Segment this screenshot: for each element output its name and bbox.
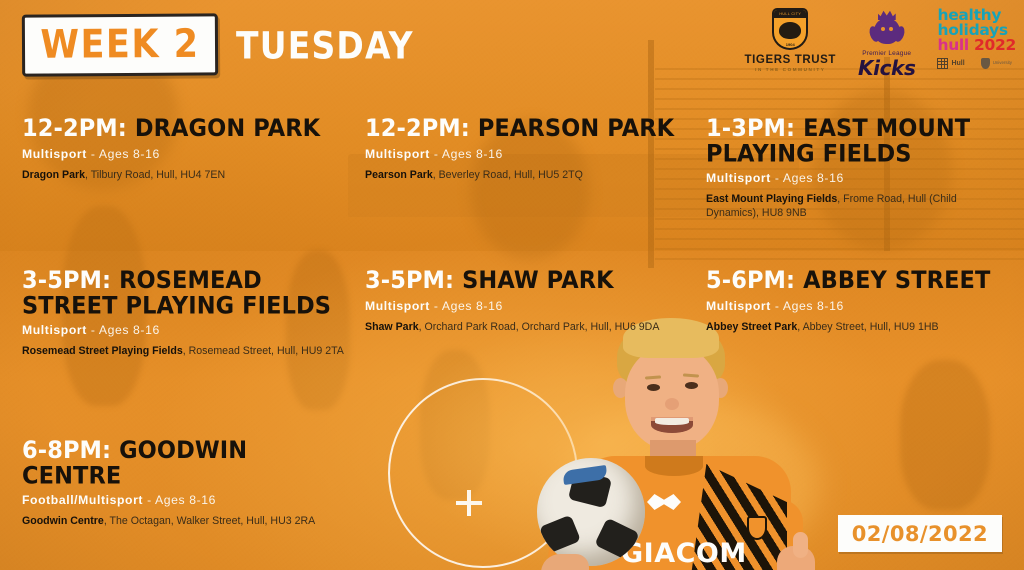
event-ages: - Ages 8-16	[771, 171, 844, 185]
event-address: Pearson Park, Beverley Road, Hull, HU5 2…	[365, 168, 690, 182]
event-ages: - Ages 8-16	[430, 299, 503, 313]
event-time: 12-2PM:	[365, 115, 470, 143]
event-time: 3-5PM:	[365, 267, 454, 295]
event-address-rest: , Abbey Street, Hull, HU9 1HB	[797, 321, 938, 333]
event-sport: Football/Multisport	[22, 493, 143, 507]
event-address-name: Pearson Park	[365, 169, 433, 181]
event-card-pearson-park[interactable]: 12-2PM: PEARSON PARK Multisport - Ages 8…	[365, 116, 690, 182]
event-card-goodwin-centre[interactable]: 6-8PM: GOODWIN CENTRE Football/Multispor…	[22, 438, 352, 528]
event-address: Rosemead Street Playing Fields, Rosemead…	[22, 344, 352, 358]
event-sport: Multisport	[365, 299, 430, 313]
event-sport: Multisport	[706, 171, 771, 185]
event-address-rest: , Tilbury Road, Hull, HU4 7EN	[85, 169, 225, 181]
event-sport: Multisport	[706, 299, 771, 313]
event-address: Goodwin Centre, The Octagan, Walker Stre…	[22, 514, 352, 528]
event-title: 1-3PM: EAST MOUNT PLAYING FIELDS	[706, 116, 1006, 167]
event-time: 6-8PM:	[22, 437, 111, 465]
event-card-east-mount-playing-fields[interactable]: 1-3PM: EAST MOUNT PLAYING FIELDS Multisp…	[706, 116, 1006, 221]
event-time: 12-2PM:	[22, 115, 127, 143]
event-address-name: Rosemead Street Playing Fields	[22, 345, 183, 357]
event-address-rest: , Rosemead Street, Hull, HU9 2TA	[183, 345, 344, 357]
event-ages: - Ages 8-16	[143, 493, 216, 507]
event-sport: Multisport	[22, 323, 87, 337]
event-sport-line: Multisport - Ages 8-16	[365, 147, 690, 161]
event-venue: PEARSON PARK	[478, 115, 674, 143]
event-sport-line: Multisport - Ages 8-16	[22, 323, 352, 337]
event-address-name: Shaw Park	[365, 321, 419, 333]
event-address-name: Goodwin Centre	[22, 515, 104, 527]
poster-canvas: WEEK 2 TUESDAY HULL CITY 1904 TIGERS TRU…	[0, 0, 1024, 570]
event-venue: DRAGON PARK	[135, 115, 320, 143]
event-card-dragon-park[interactable]: 12-2PM: DRAGON PARK Multisport - Ages 8-…	[22, 116, 352, 182]
event-address-rest: , The Octagan, Walker Street, Hull, HU3 …	[104, 515, 315, 527]
event-venue: SHAW PARK	[462, 267, 614, 295]
event-title: 12-2PM: DRAGON PARK	[22, 116, 352, 142]
event-sport-line: Multisport - Ages 8-16	[22, 147, 352, 161]
event-time: 5-6PM:	[706, 267, 795, 295]
event-sport-line: Football/Multisport - Ages 8-16	[22, 493, 352, 507]
event-address: East Mount Playing Fields, Frome Road, H…	[706, 192, 1006, 221]
event-title: 6-8PM: GOODWIN CENTRE	[22, 438, 352, 489]
event-title: 3-5PM: ROSEMEAD STREET PLAYING FIELDS	[22, 268, 352, 319]
event-sport-line: Multisport - Ages 8-16	[706, 299, 1006, 313]
event-venue: ABBEY STREET	[803, 267, 990, 295]
events-grid: 12-2PM: DRAGON PARK Multisport - Ages 8-…	[0, 0, 1024, 570]
event-card-rosemead-street-playing-fields[interactable]: 3-5PM: ROSEMEAD STREET PLAYING FIELDS Mu…	[22, 268, 352, 358]
event-address-name: Dragon Park	[22, 169, 85, 181]
date-badge: 02/08/2022	[838, 515, 1002, 552]
event-title: 5-6PM: ABBEY STREET	[706, 268, 1006, 294]
event-sport: Multisport	[365, 147, 430, 161]
event-sport-line: Multisport - Ages 8-16	[706, 171, 1006, 185]
event-title: 12-2PM: PEARSON PARK	[365, 116, 690, 142]
event-card-abbey-street[interactable]: 5-6PM: ABBEY STREET Multisport - Ages 8-…	[706, 268, 1006, 334]
event-sport: Multisport	[22, 147, 87, 161]
event-address-rest: , Beverley Road, Hull, HU5 2TQ	[433, 169, 583, 181]
event-address-name: Abbey Street Park	[706, 321, 797, 333]
event-title: 3-5PM: SHAW PARK	[365, 268, 690, 294]
event-time: 3-5PM:	[22, 267, 111, 295]
date-text: 02/08/2022	[852, 522, 988, 546]
event-card-shaw-park[interactable]: 3-5PM: SHAW PARK Multisport - Ages 8-16 …	[365, 268, 690, 334]
event-sport-line: Multisport - Ages 8-16	[365, 299, 690, 313]
event-ages: - Ages 8-16	[87, 147, 160, 161]
event-ages: - Ages 8-16	[430, 147, 503, 161]
event-address-rest: , Orchard Park Road, Orchard Park, Hull,…	[419, 321, 660, 333]
event-ages: - Ages 8-16	[87, 323, 160, 337]
event-address: Dragon Park, Tilbury Road, Hull, HU4 7EN	[22, 168, 352, 182]
event-ages: - Ages 8-16	[771, 299, 844, 313]
event-address-name: East Mount Playing Fields	[706, 193, 837, 205]
event-address: Shaw Park, Orchard Park Road, Orchard Pa…	[365, 320, 690, 334]
event-address: Abbey Street Park, Abbey Street, Hull, H…	[706, 320, 1006, 334]
event-time: 1-3PM:	[706, 115, 795, 143]
